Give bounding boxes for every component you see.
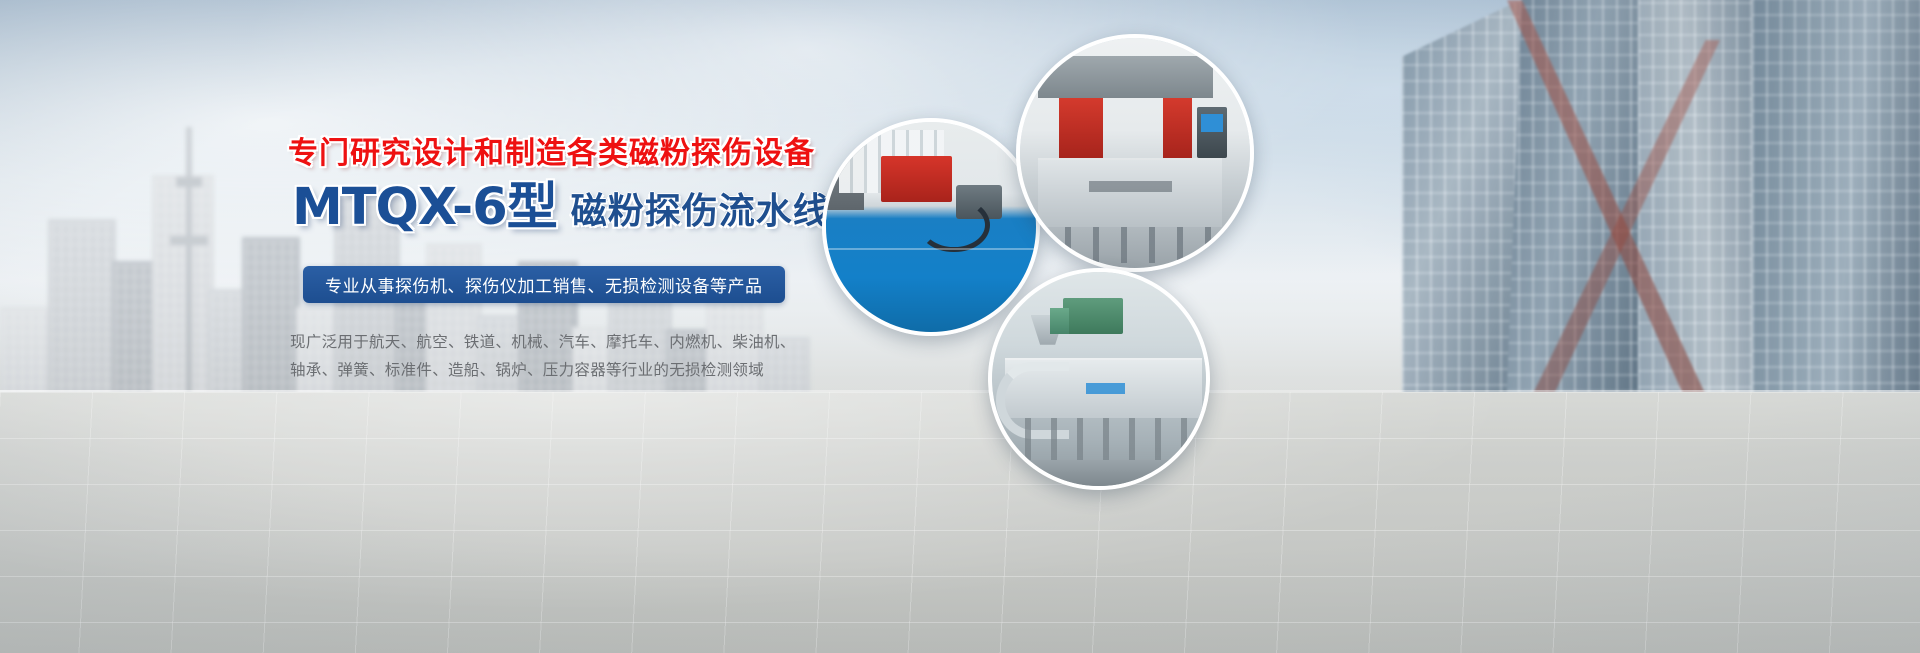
banner-title: MTQX-6型 磁粉探伤流水线 <box>292 182 830 233</box>
banner-copy: 专门研究设计和制造各类磁粉探伤设备 MTQX-6型 磁粉探伤流水线 专业从事探伤… <box>0 0 850 653</box>
description-line-2: 轴承、弹簧、标准件、造船、锅炉、压力容器等行业的无损检测领域 <box>290 356 796 384</box>
photo-bubble-inspection-cabinet <box>1016 34 1254 272</box>
banner-headline: 专门研究设计和制造各类磁粉探伤设备 <box>288 128 815 172</box>
services-pill[interactable]: 专业从事探伤机、探伤仪加工销售、无损检测设备等产品 <box>303 266 785 303</box>
hero-banner: 专门研究设计和制造各类磁粉探伤设备 MTQX-6型 磁粉探伤流水线 专业从事探伤… <box>0 0 1920 653</box>
description-line-1: 现广泛用于航天、航空、铁道、机械、汽车、摩托车、内燃机、柴油机、 <box>290 328 796 356</box>
product-model: MTQX-6型 <box>292 182 557 233</box>
photo-bubble-conveyor-line <box>988 268 1210 490</box>
banner-description: 现广泛用于航天、航空、铁道、机械、汽车、摩托车、内燃机、柴油机、 轴承、弹簧、标… <box>290 328 796 384</box>
product-subject: 磁粉探伤流水线 <box>571 194 830 233</box>
